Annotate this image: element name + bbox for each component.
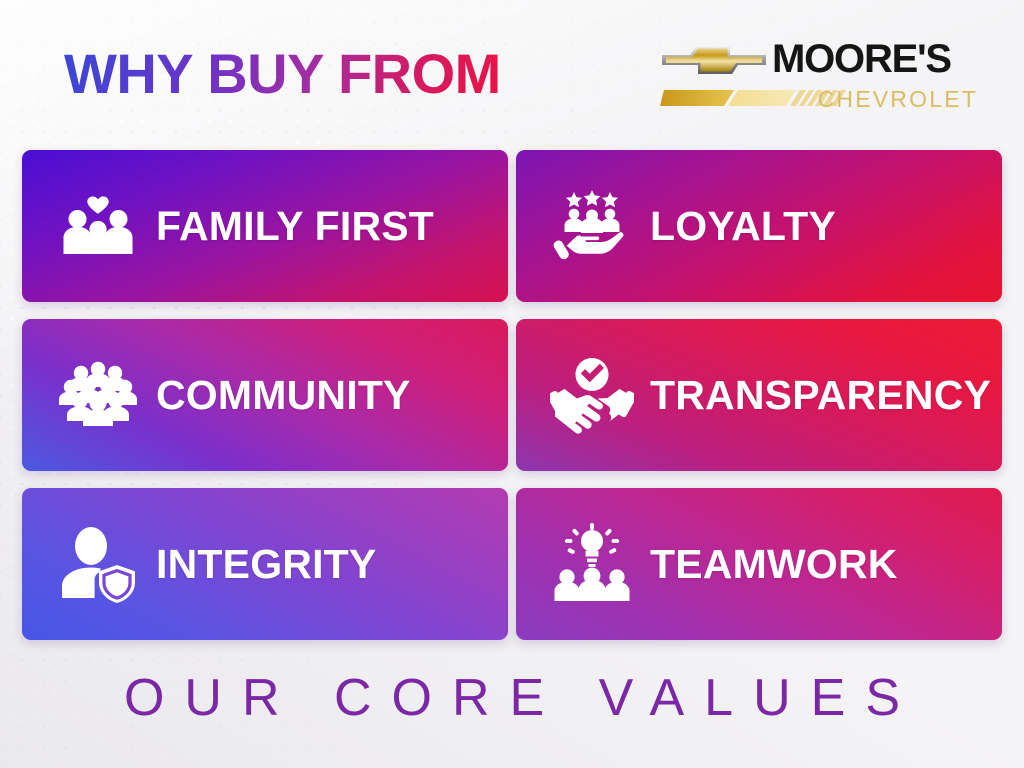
value-card-teamwork[interactable]: TEAMWORK: [516, 488, 1002, 640]
value-card-family-first[interactable]: FAMILY FIRST: [22, 150, 508, 302]
chevrolet-bowtie-icon: [660, 39, 768, 79]
core-values-grid: FAMILY FIRST LOYALTY: [22, 150, 1002, 650]
value-card-label: LOYALTY: [650, 206, 836, 247]
value-card-loyalty[interactable]: LOYALTY: [516, 150, 1002, 302]
family-heart-icon: [56, 184, 140, 268]
poster-canvas: WHY BUY FROM: [0, 0, 1024, 768]
team-lightbulb-icon: [550, 522, 634, 606]
page-title: WHY BUY FROM: [64, 46, 501, 102]
value-card-integrity[interactable]: INTEGRITY: [22, 488, 508, 640]
value-card-community[interactable]: COMMUNITY: [22, 319, 508, 471]
logo-name: MOORE'S: [772, 39, 951, 79]
footer-tagline: OUR CORE VALUES: [0, 672, 1024, 724]
logo-subtitle: CHEVROLET: [818, 86, 978, 112]
logo-top-row: MOORE'S: [660, 34, 980, 84]
person-shield-icon: [56, 522, 140, 606]
logo-bottom-row: CHEVROLET: [660, 86, 980, 112]
handshake-check-icon: [550, 353, 634, 437]
footer: OUR CORE VALUES: [0, 672, 1024, 724]
value-card-transparency[interactable]: TRANSPARENCY: [516, 319, 1002, 471]
hand-people-stars-icon: [550, 184, 634, 268]
value-card-label: COMMUNITY: [156, 375, 411, 416]
value-card-label: FAMILY FIRST: [156, 206, 434, 247]
dealer-logo: MOORE'S: [660, 34, 980, 112]
crowd-people-icon: [56, 353, 140, 437]
value-card-label: TRANSPARENCY: [650, 375, 991, 416]
value-card-label: TEAMWORK: [650, 544, 898, 585]
value-card-label: INTEGRITY: [156, 544, 376, 585]
